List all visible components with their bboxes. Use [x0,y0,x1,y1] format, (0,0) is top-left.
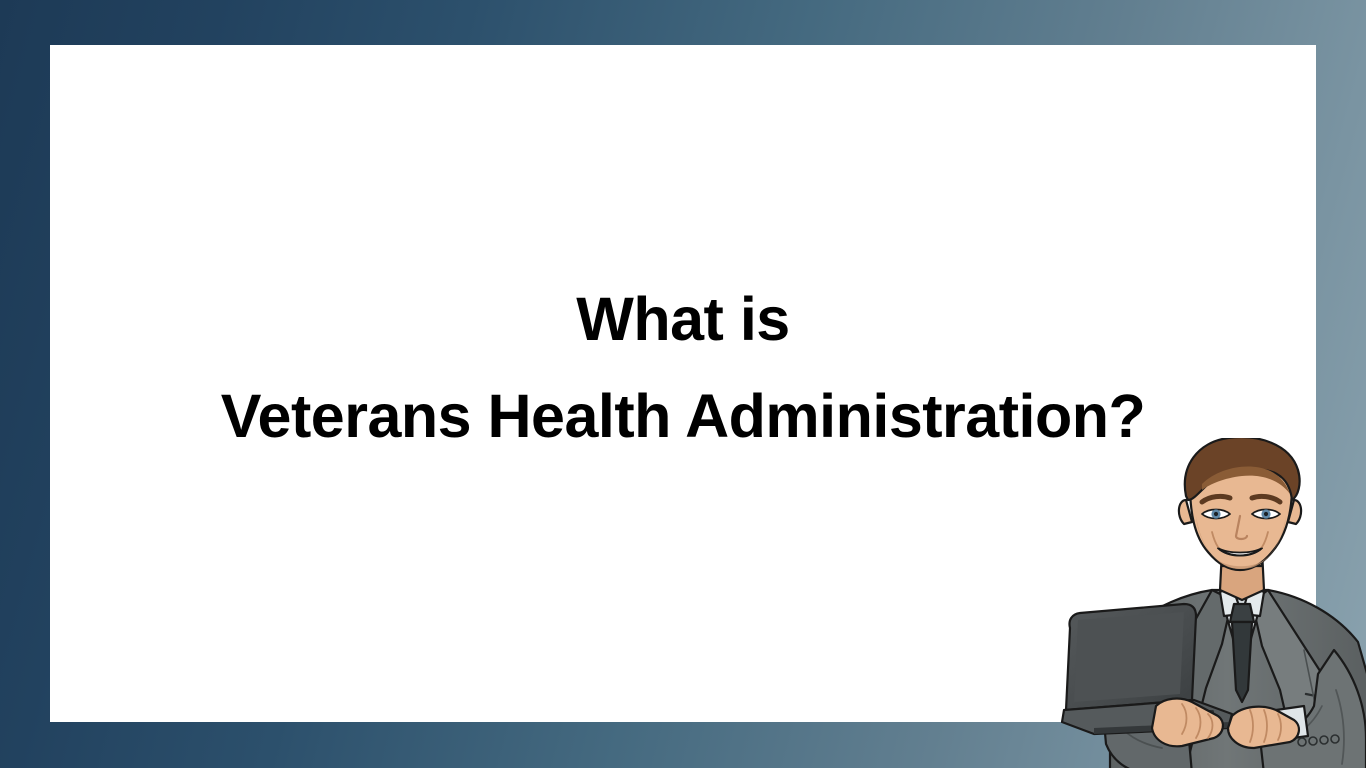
slide-content-card: What is Veterans Health Administration? [50,45,1316,722]
presentation-slide: What is Veterans Health Administration? [0,0,1366,768]
slide-title-line-1: What is [50,288,1316,350]
slide-title-line-2: Veterans Health Administration? [50,385,1316,447]
